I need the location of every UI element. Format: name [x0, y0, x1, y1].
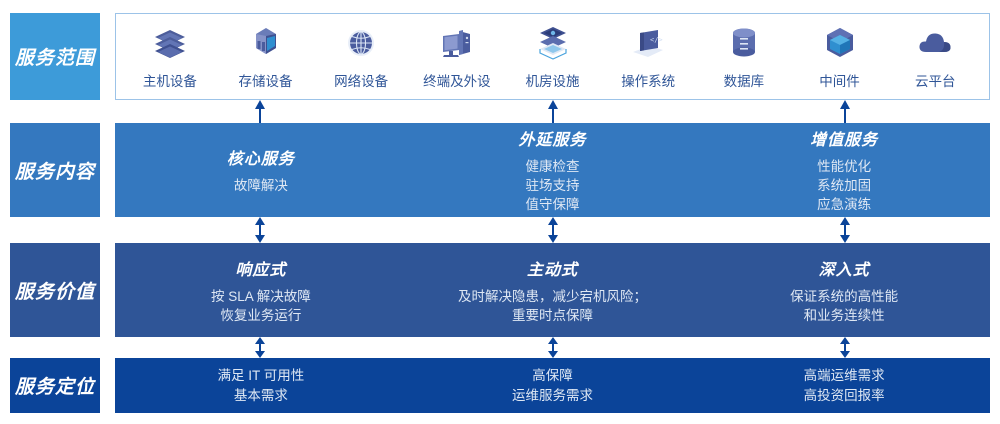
value-column-proactive[interactable]: 主动式 及时解决隐患，减少宕机风险； 重要时点保障 [407, 243, 699, 337]
scope-item-label: 操作系统 [621, 70, 675, 90]
data-center-rack-icon [533, 24, 573, 64]
column-line: 保证系统的高性能 [790, 287, 898, 306]
column-line: 恢复业务运行 [220, 306, 301, 325]
scope-item-terminal-peripheral[interactable]: 终端及外设 [409, 24, 505, 90]
row-label-service-position: 服务定位 [10, 358, 100, 413]
connector-content-to-value-left [253, 217, 267, 243]
connector-content-to-value-right [838, 217, 852, 243]
position-column-basic[interactable]: 满足 IT 可用性 基本需求 [115, 358, 407, 413]
column-line: 及时解决隐患，减少宕机风险； [458, 287, 647, 306]
position-column-high-assurance[interactable]: 高保障 运维服务需求 [407, 358, 699, 413]
row-label-text: 服务内容 [15, 157, 95, 184]
column-title: 响应式 [235, 256, 286, 280]
row-label-service-value: 服务价值 [10, 243, 100, 337]
value-column-indepth[interactable]: 深入式 保证系统的高性能 和业务连续性 [698, 243, 990, 337]
scope-item-data-center-facility[interactable]: 机房设施 [505, 24, 601, 90]
server-stack-icon [150, 24, 190, 64]
service-position-panel: 满足 IT 可用性 基本需求 高保障 运维服务需求 高端运维需求 高投资回报率 [115, 358, 990, 413]
column-line: 重要时点保障 [512, 306, 593, 325]
scope-item-label: 主机设备 [143, 70, 197, 90]
scope-item-network-device[interactable]: 网络设备 [313, 24, 409, 90]
scope-item-label: 中间件 [819, 70, 860, 90]
column-line: 运维服务需求 [512, 386, 593, 406]
column-title: 深入式 [819, 256, 870, 280]
content-column-value-added[interactable]: 增值服务 性能优化 系统加固 应急演练 [698, 123, 990, 217]
column-line: 故障解决 [234, 176, 288, 195]
connector-content-to-value-center [546, 217, 560, 243]
connector-scope-to-content-center [546, 100, 560, 123]
service-value-panel: 响应式 按 SLA 解决故障 恢复业务运行 主动式 及时解决隐患，减少宕机风险；… [115, 243, 990, 337]
row-label-text: 服务价值 [15, 277, 95, 304]
scope-item-middleware[interactable]: 中间件 [792, 24, 888, 90]
service-scope-panel: 主机设备 存储设备 [115, 13, 990, 100]
column-line: 满足 IT 可用性 [217, 366, 304, 386]
column-line: 和业务连续性 [804, 306, 885, 325]
column-line: 按 SLA 解决故障 [211, 287, 311, 306]
column-line: 驻场支持 [526, 176, 580, 195]
connector-scope-to-content-right [838, 100, 852, 123]
svg-text:</>: </> [650, 36, 663, 44]
cloud-platform-icon [915, 24, 955, 64]
row-label-service-scope: 服务范围 [10, 13, 100, 100]
scope-item-storage-device[interactable]: 存储设备 [218, 24, 314, 90]
column-line: 值守保障 [526, 195, 580, 214]
column-line: 基本需求 [234, 386, 288, 406]
column-line: 高投资回报率 [804, 386, 885, 406]
column-title: 主动式 [527, 256, 578, 280]
scope-item-label: 云平台 [915, 70, 956, 90]
scope-item-label: 存储设备 [239, 70, 293, 90]
database-cylinder-icon [724, 24, 764, 64]
connector-value-to-position-right [838, 337, 852, 358]
service-framework-diagram: 服务范围 服务内容 服务价值 服务定位 [0, 0, 1000, 424]
connector-value-to-position-left [253, 337, 267, 358]
column-line: 健康检查 [526, 157, 580, 176]
column-line: 高端运维需求 [804, 366, 885, 386]
content-column-extended[interactable]: 外延服务 健康检查 驻场支持 值守保障 [407, 123, 699, 217]
column-title: 核心服务 [227, 145, 295, 169]
scope-item-database[interactable]: 数据库 [696, 24, 792, 90]
column-title: 增值服务 [810, 126, 878, 150]
globe-network-icon [341, 24, 381, 64]
operating-system-icon: </> [628, 24, 668, 64]
column-line: 系统加固 [817, 176, 871, 195]
scope-item-operating-system[interactable]: </> 操作系统 [600, 24, 696, 90]
scope-item-label: 网络设备 [334, 70, 388, 90]
row-label-service-content: 服务内容 [10, 123, 100, 217]
value-column-responsive[interactable]: 响应式 按 SLA 解决故障 恢复业务运行 [115, 243, 407, 337]
scope-item-label: 数据库 [724, 70, 765, 90]
column-title: 外延服务 [519, 126, 587, 150]
position-column-high-end[interactable]: 高端运维需求 高投资回报率 [698, 358, 990, 413]
service-content-panel: 核心服务 故障解决 外延服务 健康检查 驻场支持 值守保障 增值服务 性能优化 … [115, 123, 990, 217]
column-line: 性能优化 [817, 157, 871, 176]
desktop-terminal-icon [437, 24, 477, 64]
scope-item-cloud-platform[interactable]: 云平台 [887, 24, 983, 90]
row-label-text: 服务定位 [15, 372, 95, 399]
connector-value-to-position-center [546, 337, 560, 358]
column-line: 高保障 [532, 366, 573, 386]
row-label-text: 服务范围 [15, 43, 95, 70]
storage-array-icon [246, 24, 286, 64]
column-line: 应急演练 [817, 195, 871, 214]
scope-item-label: 机房设施 [526, 70, 580, 90]
scope-item-label: 终端及外设 [423, 70, 491, 90]
middleware-cube-icon [820, 24, 860, 64]
connector-scope-to-content-left [253, 100, 267, 123]
scope-item-host-device[interactable]: 主机设备 [122, 24, 218, 90]
content-column-core[interactable]: 核心服务 故障解决 [115, 123, 407, 217]
